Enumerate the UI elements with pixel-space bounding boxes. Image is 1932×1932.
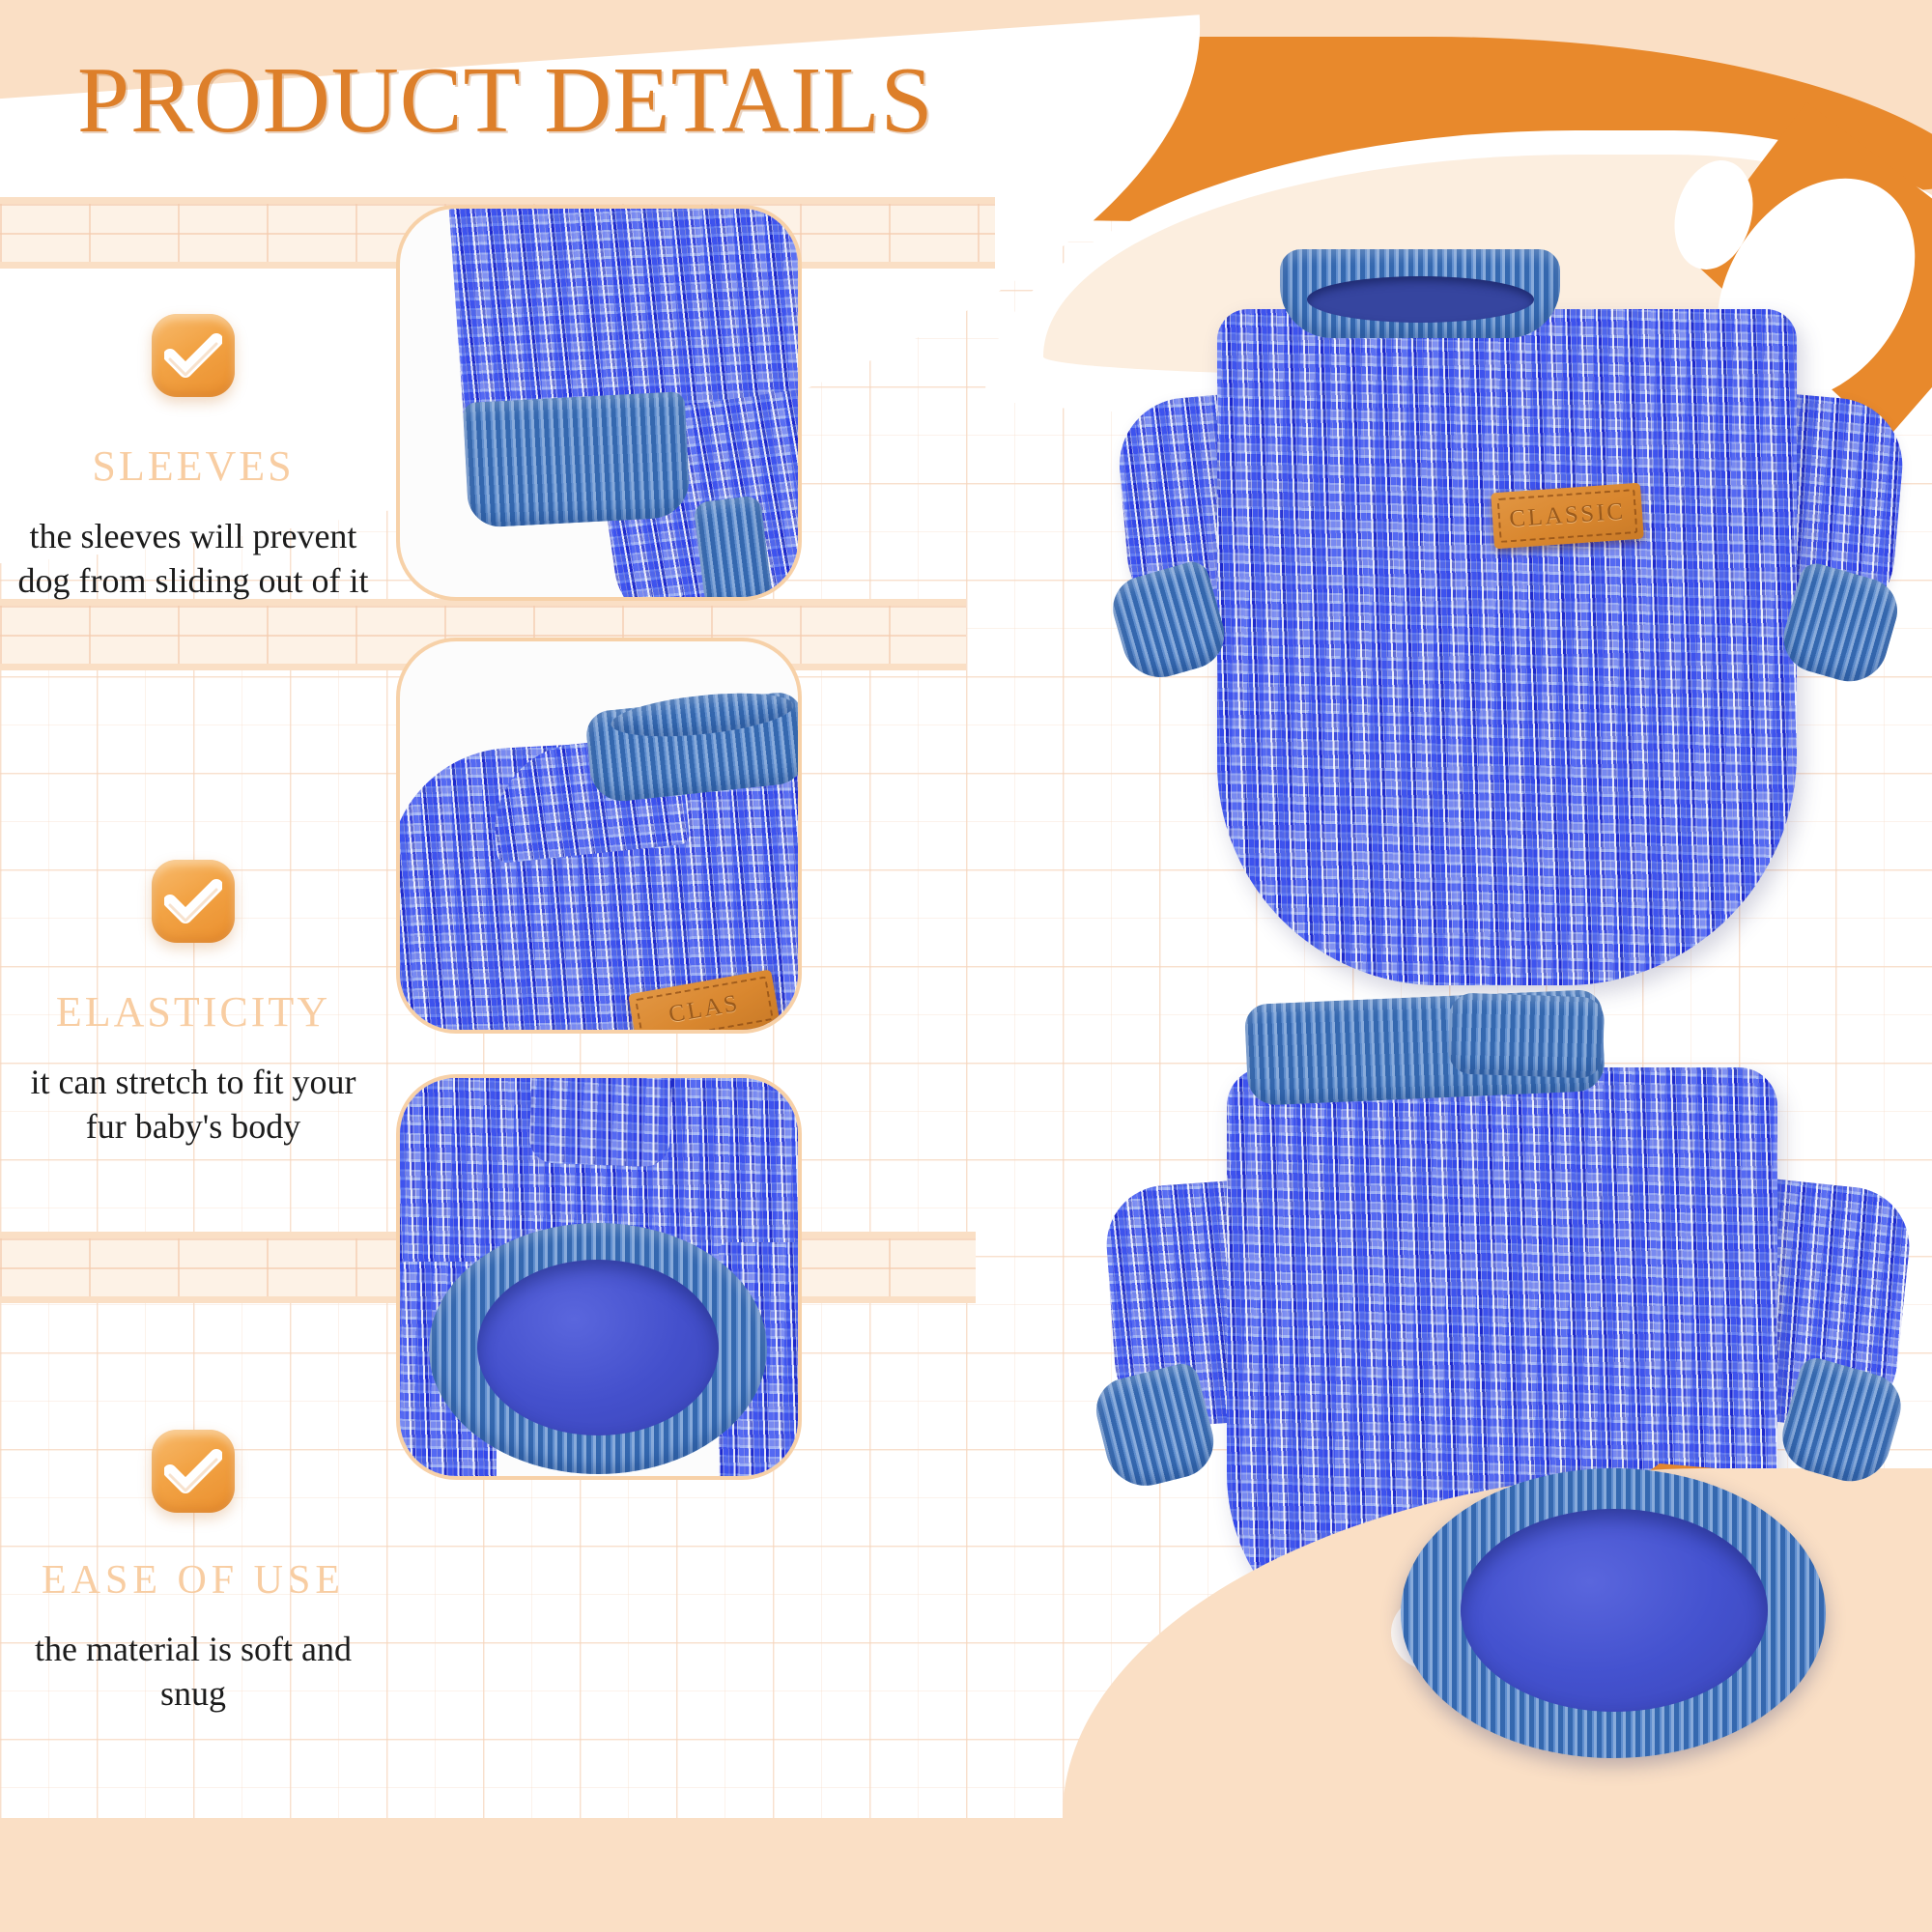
feature-desc-ease-of-use: the material is soft and snug [0, 1627, 386, 1716]
check-icon [152, 314, 235, 397]
infographic-canvas: PRODUCT DETAILS SLEEVES the sleeves will… [0, 0, 1932, 1932]
collar-opening [1307, 276, 1534, 323]
feature-block-ease-of-use: EASE OF USE the material is soft and snu… [0, 1430, 386, 1716]
knit-fabric-fold [528, 1074, 671, 1167]
product-front-view: CLASSIC [1106, 232, 1918, 995]
check-icon [152, 860, 235, 943]
feature-title-sleeves: SLEEVES [0, 441, 386, 491]
footer-peach-band [0, 1818, 1932, 1932]
fleece-lining [477, 1260, 719, 1435]
photo-card-elasticity: CLAS [396, 638, 802, 1034]
feature-desc-sleeves: the sleeves will prevent dog from slidin… [0, 514, 386, 603]
sweater-body [1217, 309, 1797, 985]
feature-title-elasticity: ELASTICITY [0, 987, 386, 1037]
ribbed-cuff [463, 391, 691, 528]
photo-card-sleeves [396, 205, 802, 601]
feature-desc-elasticity: it can stretch to fit your fur baby's bo… [0, 1060, 386, 1149]
check-icon [152, 1430, 235, 1513]
ribbed-collar-notch [1448, 992, 1605, 1079]
feature-block-elasticity: ELASTICITY it can stretch to fit your fu… [0, 860, 386, 1149]
brand-tag: CLASSIC [1491, 483, 1644, 550]
ribbed-cuff [693, 495, 773, 601]
photo-card-ease-of-use [396, 1074, 802, 1480]
fleece-lining [1461, 1509, 1768, 1712]
feature-block-sleeves: SLEEVES the sleeves will prevent dog fro… [0, 314, 386, 603]
page-title: PRODUCT DETAILS [77, 46, 934, 154]
feature-title-ease-of-use: EASE OF USE [0, 1557, 386, 1604]
